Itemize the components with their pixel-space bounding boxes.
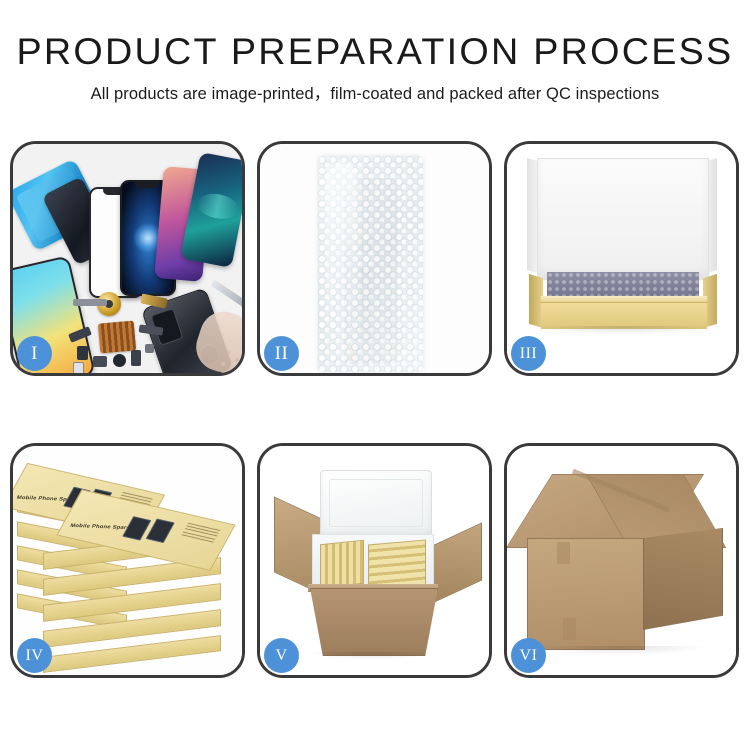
- gold-boxes-group-left: [320, 540, 364, 589]
- process-step-card-2: II: [257, 141, 492, 376]
- page-subtitle: All products are image-printed，film-coat…: [0, 83, 750, 105]
- step-badge-6: VI: [511, 638, 546, 673]
- carton-shadow: [531, 646, 707, 655]
- small-part-1: [77, 346, 88, 360]
- process-step-card-6: VI: [504, 443, 739, 678]
- tweezer-tool: [210, 279, 242, 307]
- box-label-spec-lines-front: [181, 523, 221, 545]
- carton-side-panel: [643, 528, 723, 630]
- step-6-image: [507, 446, 736, 675]
- flex-cable-1: [73, 299, 107, 306]
- small-part-4: [131, 350, 141, 366]
- process-step-card-1: I: [10, 141, 245, 376]
- gold-box-stack: Mobile Phone Spare Parts Mobile Phone Sp…: [13, 446, 242, 675]
- process-steps-grid: I II: [10, 141, 740, 678]
- step-badge-4: IV: [17, 638, 52, 673]
- page-header: PRODUCT PREPARATION PROCESS All products…: [0, 0, 750, 105]
- bubble-wrap-gloss: [324, 162, 358, 362]
- small-part-2: [93, 356, 107, 367]
- gold-box-front: [541, 302, 707, 329]
- product-preparation-process-page: PRODUCT PREPARATION PROCESS All products…: [0, 0, 750, 750]
- process-step-card-3: III: [504, 141, 739, 376]
- carton-flap-right: [432, 522, 482, 603]
- step-1-image: [13, 144, 242, 373]
- box-shadow: [537, 326, 711, 335]
- chip-array-part: [98, 320, 136, 353]
- carton-tape-mark-2: [563, 618, 576, 640]
- step-5-image: [260, 446, 489, 675]
- small-part-6: [145, 344, 154, 353]
- small-part-3: [113, 354, 126, 367]
- foam-lid: [320, 470, 432, 538]
- small-part-5: [73, 362, 84, 373]
- carton-shadow: [312, 652, 434, 660]
- box-foam-lid: [537, 158, 709, 280]
- process-step-card-4: Mobile Phone Spare Parts Mobile Phone Sp…: [10, 443, 245, 678]
- page-title: PRODUCT PREPARATION PROCESS: [0, 30, 750, 74]
- step-4-image: Mobile Phone Spare Parts Mobile Phone Sp…: [13, 446, 242, 675]
- carton-front-panel: [527, 538, 645, 650]
- step-badge-3: III: [511, 336, 546, 371]
- step-badge-2: II: [264, 336, 299, 371]
- step-2-image: [260, 144, 489, 373]
- step-badge-1: I: [17, 336, 52, 371]
- gold-boxes-group-right: [368, 539, 426, 590]
- step-3-image: [507, 144, 736, 373]
- carton-body: [310, 588, 438, 656]
- carton-tape-mark-1: [557, 542, 570, 564]
- bubble-wrap-package: [318, 156, 423, 372]
- process-step-card-5: V: [257, 443, 492, 678]
- step-badge-5: V: [264, 638, 299, 673]
